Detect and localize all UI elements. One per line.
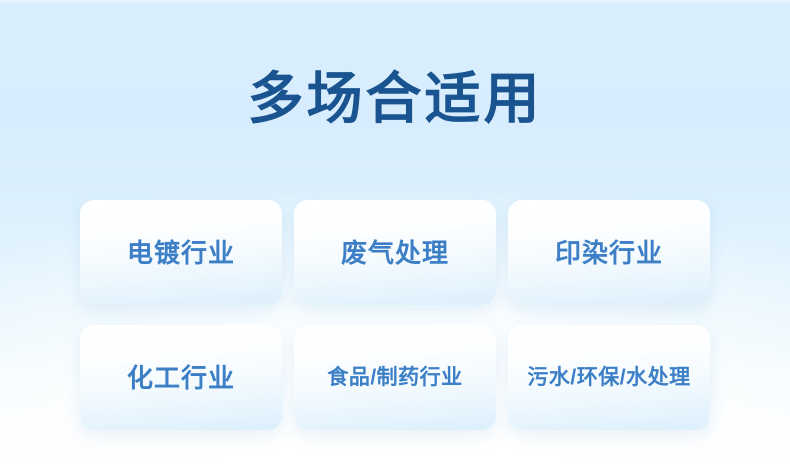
industry-card-grid: 电镀行业 废气处理 印染行业 化工行业 食品/制药行业 污水/环保/水处理 [80, 200, 710, 430]
industry-card-food-pharma[interactable]: 食品/制药行业 [294, 325, 496, 430]
industry-card-label: 废气处理 [341, 238, 449, 268]
industry-card-label: 电镀行业 [127, 238, 235, 268]
industry-card-exhaust-gas[interactable]: 废气处理 [294, 200, 496, 305]
industry-card-label: 化工行业 [127, 363, 235, 393]
page-title: 多场合适用 [0, 68, 790, 130]
industry-card-chemical[interactable]: 化工行业 [80, 325, 282, 430]
industry-card-printing-dyeing[interactable]: 印染行业 [508, 200, 710, 305]
industry-card-sewage-environment-water[interactable]: 污水/环保/水处理 [508, 325, 710, 430]
industry-card-label: 食品/制药行业 [327, 365, 462, 391]
industry-card-electroplating[interactable]: 电镀行业 [80, 200, 282, 305]
promo-poster: 多场合适用 电镀行业 废气处理 印染行业 化工行业 食品/制药行业 污水/环保/… [0, 0, 790, 464]
industry-card-label: 污水/环保/水处理 [527, 365, 690, 391]
industry-card-label: 印染行业 [555, 238, 663, 268]
